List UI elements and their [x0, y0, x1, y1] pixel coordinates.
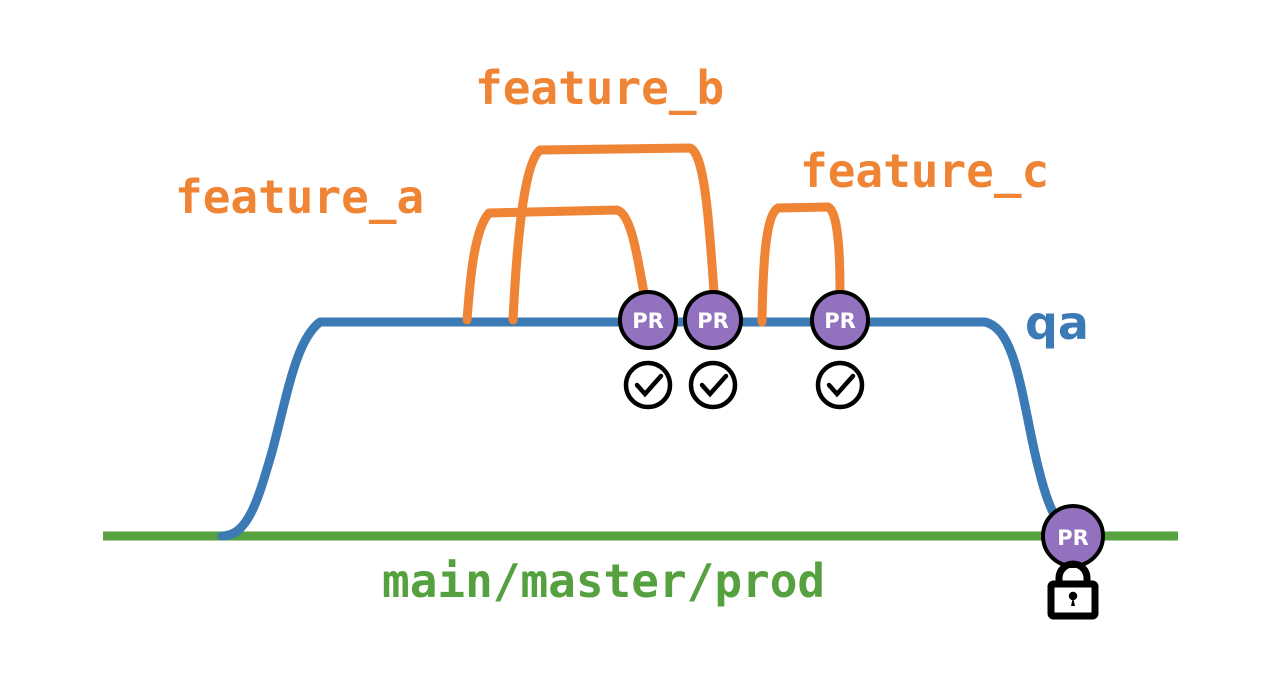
check-circle-icon: [626, 363, 670, 407]
approval-check-1: [626, 363, 670, 407]
check-circle-icon: [818, 363, 862, 407]
feature-a-branch-line: [467, 210, 644, 320]
pr-label: PR: [1057, 526, 1089, 550]
check-circle-icon: [691, 363, 735, 407]
padlock-icon: [1051, 564, 1095, 616]
approval-check-3: [818, 363, 862, 407]
git-branching-diagram: PR PR PR PR: [0, 0, 1288, 678]
pull-request-node-1[interactable]: PR: [620, 292, 676, 348]
diagram-canvas: PR PR PR PR: [0, 0, 1288, 678]
pr-label: PR: [824, 309, 856, 333]
qa-branch-line: [222, 322, 1068, 536]
feature-b-label: feature_b: [475, 61, 724, 115]
approval-check-2: [691, 363, 735, 407]
pull-request-node-2[interactable]: PR: [685, 292, 741, 348]
pr-label: PR: [632, 309, 664, 333]
main-branch-label: main/master/prod: [382, 554, 825, 608]
pull-request-node-4[interactable]: PR: [1043, 506, 1103, 566]
pr-label: PR: [697, 309, 729, 333]
feature-a-label: feature_a: [175, 170, 424, 224]
feature-b-branch-line: [513, 148, 714, 320]
pull-request-node-3[interactable]: PR: [812, 292, 868, 348]
qa-label: qa: [1025, 296, 1089, 350]
feature-c-label: feature_c: [800, 144, 1049, 198]
